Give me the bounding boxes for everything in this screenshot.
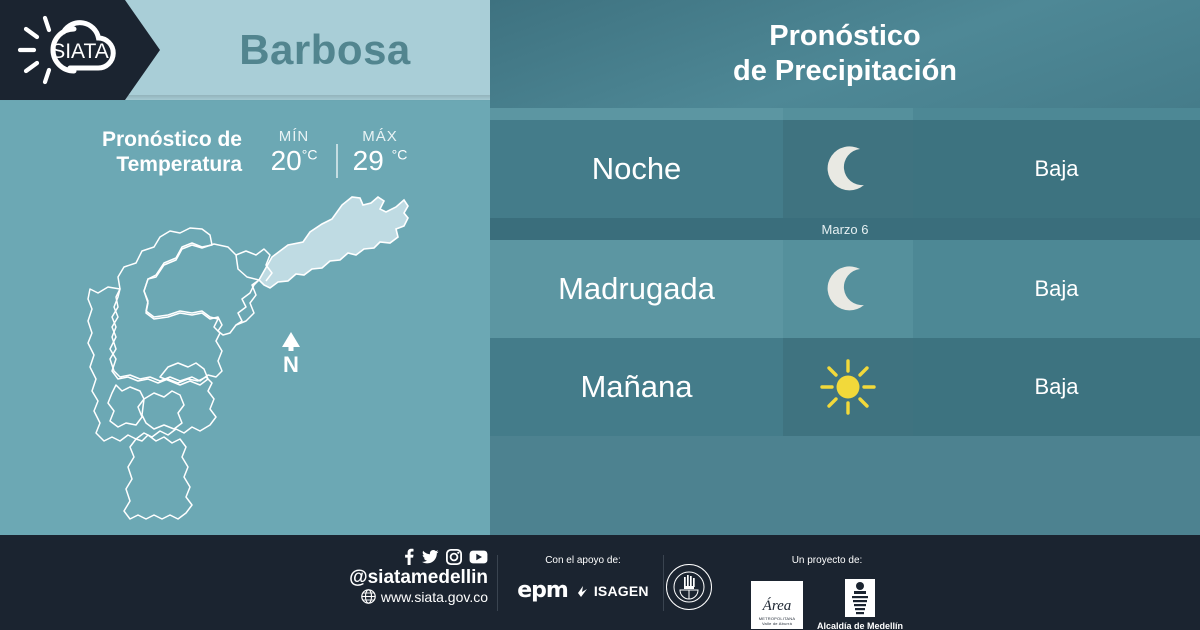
footer-support-block: Con el apoyo de: epm ISAGEN: [508, 555, 658, 603]
temperature-values: MÍN 20°C MÁX 29 °C: [256, 128, 418, 178]
footer-divider-2: [663, 555, 664, 611]
city-name: Barbosa: [160, 0, 490, 100]
footer-support-caption: Con el apoyo de:: [508, 555, 658, 566]
temperature-title: Pronóstico de Temperatura: [60, 128, 242, 178]
footer-project-block: Un proyecto de: Área METROPOLITANA Valle…: [712, 555, 942, 630]
footer-handle[interactable]: @siatamedellin: [349, 567, 488, 589]
date-label-day2: Marzo 6: [822, 222, 869, 237]
area-logo-script: Área: [763, 599, 792, 614]
siata-logo-text: SIATA: [51, 40, 109, 63]
forecast-row[interactable]: Madrugada Baja: [490, 240, 1200, 338]
max-number: 29: [353, 145, 384, 176]
temperature-summary: Pronóstico de Temperatura MÍN 20°C MÁX 2…: [60, 122, 440, 184]
forecast-period-label: Noche: [592, 151, 682, 187]
forecast-icon-cell: [783, 120, 913, 218]
forecast-period-label: Mañana: [580, 369, 692, 405]
map-svg: N: [60, 185, 480, 535]
map-region-highlighted: [259, 197, 408, 288]
valley-map: N: [60, 185, 480, 535]
institution-seal-icon: [666, 564, 712, 610]
footer-social-block: @siatamedellin www.siata.gov.co: [318, 548, 488, 605]
precipitation-title-line2: de Precipitación: [733, 54, 957, 89]
moon-icon: [820, 141, 876, 197]
area-metropolitana-logo: Área METROPOLITANA Valle de Aburrá: [751, 581, 803, 629]
facebook-icon[interactable]: [402, 548, 415, 565]
area-sub-line1: METROPOLITANA: [759, 616, 796, 621]
twitter-icon[interactable]: [422, 548, 439, 565]
globe-icon: [361, 589, 376, 604]
weather-forecast-poster: SIATA Barbosa Pronóstico de Temperatura …: [0, 0, 1200, 630]
forecast-level-label: Baja: [1034, 374, 1078, 400]
temperature-panel: SIATA Barbosa Pronóstico de Temperatura …: [0, 0, 490, 535]
social-icons: [402, 548, 488, 565]
forecast-level-label: Baja: [1034, 156, 1078, 182]
seal-inner-icon: [672, 570, 706, 604]
alcaldia-crest-icon: [842, 578, 878, 618]
moon-icon: [820, 261, 876, 317]
max-unit: °C: [392, 147, 408, 163]
area-sub-line2: Valle de Aburrá: [759, 621, 796, 626]
temperature-min: MÍN 20°C: [256, 128, 332, 175]
forecast-level-cell: Baja: [913, 120, 1200, 218]
temperature-min-value: 20°C: [271, 146, 318, 175]
temperature-title-line1: Pronóstico de: [60, 128, 242, 153]
footer-website[interactable]: www.siata.gov.co: [361, 589, 488, 605]
isagen-logo: ISAGEN: [577, 583, 649, 599]
forecast-row[interactable]: Mañana Ba: [490, 338, 1200, 436]
forecast-period-cell: Noche: [490, 120, 783, 218]
temperature-divider: [336, 144, 338, 178]
compass-label: N: [283, 352, 299, 377]
precipitation-header: Pronóstico de Precipitación: [490, 0, 1200, 108]
forecast-level-label: Baja: [1034, 276, 1078, 302]
compass-rose: N: [282, 332, 300, 377]
city-name-text: Barbosa: [239, 26, 411, 74]
forecast-level-cell: Baja: [913, 338, 1200, 436]
youtube-icon[interactable]: [469, 550, 488, 564]
instagram-icon[interactable]: [446, 549, 462, 565]
forecast-period-cell: Mañana: [490, 338, 783, 436]
isagen-mark-icon: [577, 584, 591, 598]
sun-icon: [816, 355, 880, 419]
siata-logo-icon: SIATA: [8, 10, 148, 90]
alcaldia-label: Alcaldía de Medellín: [817, 621, 903, 630]
epm-logo: epm: [517, 578, 568, 603]
forecast-level-cell: Baja: [913, 240, 1200, 338]
forecast-period-label: Madrugada: [558, 271, 715, 307]
temperature-title-line2: Temperatura: [60, 153, 242, 178]
area-logo-sub: METROPOLITANA Valle de Aburrá: [759, 616, 796, 626]
alcaldia-logo: Alcaldía de Medellín: [817, 578, 903, 630]
date-band-day2: Marzo 6: [490, 218, 1200, 240]
map-region-outlines: [88, 228, 272, 519]
footer-divider-1: [497, 555, 498, 611]
temperature-max: MÁX 29 °C: [342, 128, 418, 175]
precipitation-title-line1: Pronóstico: [769, 19, 920, 54]
forecast-icon-cell: [783, 338, 913, 436]
forecast-row[interactable]: Noche Baja: [490, 120, 1200, 218]
min-unit: °C: [302, 147, 318, 163]
temperature-max-label: MÁX: [362, 128, 398, 145]
min-number: 20: [271, 145, 302, 176]
temperature-min-label: MÍN: [279, 128, 310, 145]
forecast-icon-cell: [783, 240, 913, 338]
footer-support-logos: epm ISAGEN: [508, 578, 658, 603]
precipitation-panel: Pronóstico de Precipitación Marzo 5 Tard…: [490, 0, 1200, 535]
isagen-logo-text: ISAGEN: [594, 583, 649, 599]
forecast-period-cell: Madrugada: [490, 240, 783, 338]
footer-project-logos: Área METROPOLITANA Valle de Aburrá: [712, 578, 942, 630]
footer-project-caption: Un proyecto de:: [712, 555, 942, 566]
temperature-max-value: 29 °C: [353, 146, 408, 175]
footer-website-text: www.siata.gov.co: [381, 589, 488, 605]
